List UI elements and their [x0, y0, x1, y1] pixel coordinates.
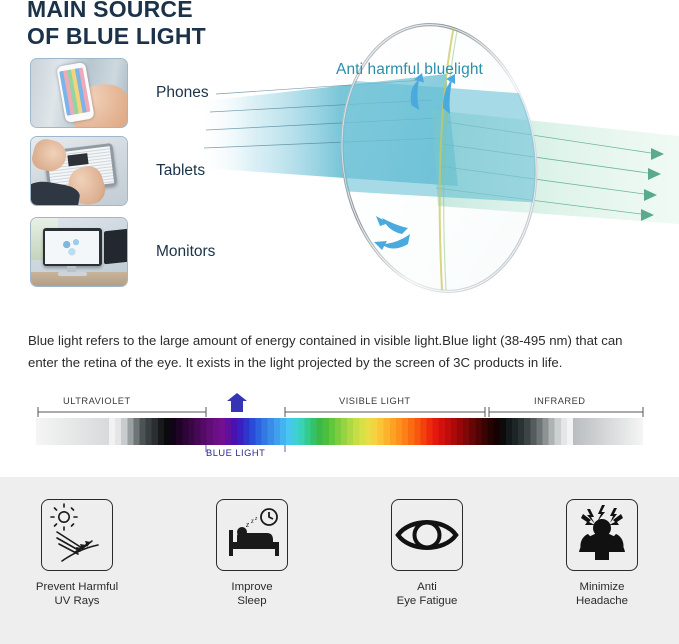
- eye-icon: [391, 499, 463, 571]
- source-item-monitors: Monitors: [30, 217, 215, 287]
- page-title: MAIN SOURCE OF BLUE LIGHT: [27, 0, 206, 50]
- source-item-tablets: Tablets: [30, 136, 205, 206]
- benefit-caption-minimize-headache: Minimize Headache: [547, 580, 657, 608]
- svg-text:z: z: [254, 516, 258, 522]
- spectrum-label-visible-light: VISIBLE LIGHT: [339, 396, 411, 406]
- spectrum-label-infrared: INFRARED: [534, 396, 586, 406]
- svg-text:z: z: [245, 520, 250, 529]
- benefits-panel: Prevent Harmful UV Rays: [0, 477, 679, 644]
- lens-diagram: Anti harmful bluelight: [196, 18, 679, 310]
- sleeping-person-bed-clock-icon: z z z: [216, 499, 288, 571]
- lens-heading: Anti harmful bluelight: [336, 61, 483, 79]
- benefit-improve-sleep: z z z Improve Sleep: [197, 499, 307, 608]
- thumbnail-monitors: [30, 217, 128, 287]
- spectrum-label-blue-light: BLUE LIGHT: [206, 448, 265, 458]
- thumbnail-tablets: [30, 136, 128, 206]
- description-paragraph: Blue light refers to the large amount of…: [28, 330, 648, 374]
- spectrum-label-ultraviolet: ULTRAVIOLET: [63, 396, 131, 406]
- infographic-root: MAIN SOURCE OF BLUE LIGHT Phones Tablets: [0, 0, 679, 644]
- benefit-caption-improve-sleep: Improve Sleep: [197, 580, 307, 608]
- benefit-caption-prevent-uv: Prevent Harmful UV Rays: [22, 580, 132, 608]
- benefit-anti-eye-fatigue: Anti Eye Fatigue: [372, 499, 482, 608]
- benefit-prevent-uv: Prevent Harmful UV Rays: [22, 499, 132, 608]
- spectrum-diagram: ULTRAVIOLET VISIBLE LIGHT INFRARED BLUE …: [0, 392, 679, 464]
- benefit-caption-anti-eye-fatigue: Anti Eye Fatigue: [372, 580, 482, 608]
- benefit-minimize-headache: Minimize Headache: [547, 499, 657, 608]
- headache-person-icon: [566, 499, 638, 571]
- source-item-phones: Phones: [30, 58, 209, 128]
- sun-uv-rays-icon: [41, 499, 113, 571]
- svg-text:z: z: [250, 517, 254, 525]
- thumbnail-phones: [30, 58, 128, 128]
